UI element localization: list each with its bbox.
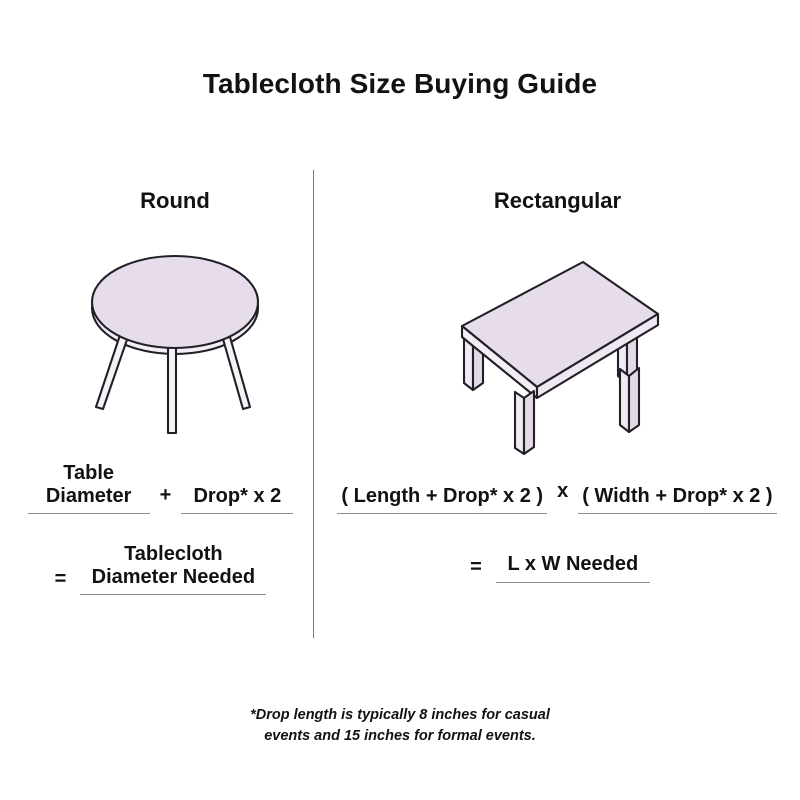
rect-table-leg-front-left	[515, 392, 524, 454]
round-equals-sign: =	[55, 568, 81, 595]
rect-result-term: L x W Needed	[496, 553, 650, 583]
footnote-line2: events and 15 inches for formal events.	[264, 728, 536, 744]
round-result-term: Tablecloth Diameter Needed	[80, 543, 266, 595]
column-heading-round: Round	[55, 188, 295, 214]
footnote-line1: *Drop length is typically 8 inches for c…	[250, 707, 550, 723]
round-table-leg-right	[221, 330, 250, 409]
round-operator-plus: +	[150, 484, 182, 514]
round-table-svg	[60, 230, 300, 435]
tablecloth-size-buying-guide: Tablecloth Size Buying Guide Round Recta…	[0, 0, 800, 800]
rectangular-formula-result: = L x W Needed	[360, 553, 760, 583]
round-table-leg-center	[168, 336, 176, 433]
round-term-drop: Drop* x 2	[181, 485, 293, 514]
round-result-line1: Tablecloth	[124, 543, 223, 565]
page-title: Tablecloth Size Buying Guide	[0, 68, 800, 100]
round-term-line2: Diameter	[46, 485, 132, 507]
footnote: *Drop length is typically 8 inches for c…	[0, 705, 800, 746]
column-divider	[313, 170, 314, 638]
rect-term-width: ( Width + Drop* x 2 )	[578, 485, 776, 514]
rect-table-leg-front-right	[620, 369, 629, 432]
rectangular-table-illustration	[440, 240, 690, 460]
rect-table-leg-front-left-side	[524, 391, 534, 454]
round-table-illustration	[60, 230, 300, 440]
column-heading-rectangular: Rectangular	[390, 188, 725, 214]
round-table-top	[92, 256, 258, 348]
rectangular-formula-numerator: ( Length + Drop* x 2 ) x ( Width + Drop*…	[322, 480, 792, 514]
round-formula-result: = Tablecloth Diameter Needed	[18, 543, 303, 595]
round-result-line2: Diameter Needed	[92, 566, 255, 588]
rect-equals-sign: =	[470, 556, 496, 583]
rect-table-leg-front-right-side	[629, 368, 639, 432]
rect-term-length: ( Length + Drop* x 2 )	[337, 485, 547, 514]
round-table-leg-left	[96, 329, 130, 409]
round-term-line1: Table	[63, 462, 114, 484]
round-term-table-diameter: Table Diameter	[28, 462, 150, 514]
rect-operator-times: x	[547, 480, 578, 514]
round-formula-numerator: Table Diameter + Drop* x 2	[18, 462, 303, 514]
rectangular-table-svg	[440, 240, 690, 455]
